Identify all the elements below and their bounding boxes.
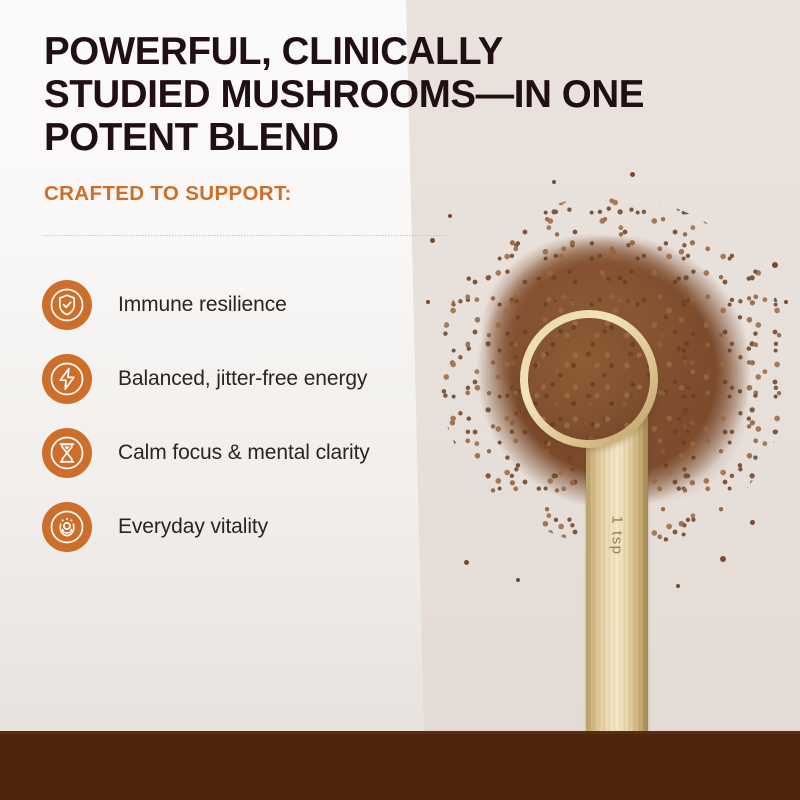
- powder-speck: [720, 556, 726, 562]
- bottom-brown-bar: [0, 731, 800, 800]
- section-eyebrow: CRAFTED TO SUPPORT:: [44, 182, 292, 206]
- lightning-bolt-icon: [42, 354, 92, 404]
- powder-speck: [464, 560, 469, 565]
- list-item: Balanced, jitter-free energy: [42, 354, 462, 404]
- bottom-brown-bar-highlight: [0, 731, 800, 734]
- powder-speck: [630, 172, 635, 177]
- shield-check-icon: [42, 280, 92, 330]
- spoon-measurement-label: 1 tsp: [609, 515, 626, 555]
- powder-speck: [750, 520, 755, 525]
- spoon-bowl-powder-texture: [528, 318, 650, 440]
- powder-speck: [784, 300, 788, 304]
- list-item: Everyday vitality: [42, 502, 462, 552]
- list-item-label: Balanced, jitter-free energy: [118, 366, 367, 392]
- hourglass-icon: [42, 428, 92, 478]
- product-infographic: 1 tsp POWERFUL, CLINICALLY STUDIED MUSHR…: [0, 0, 800, 800]
- powder-speck: [430, 238, 435, 243]
- benefits-list: Immune resilience Balanced, jitter-free …: [42, 280, 462, 576]
- list-item-label: Calm focus & mental clarity: [118, 440, 370, 466]
- list-item-label: Immune resilience: [118, 292, 287, 318]
- powder-speck: [516, 578, 520, 582]
- page-title: POWERFUL, CLINICALLY STUDIED MUSHROOMS—I…: [44, 30, 754, 159]
- divider: [43, 235, 446, 236]
- list-item-label: Everyday vitality: [118, 514, 268, 540]
- spoon-measurement-engraving: 1 tsp: [586, 470, 648, 600]
- list-item: Calm focus & mental clarity: [42, 428, 462, 478]
- hands-vitality-icon: [42, 502, 92, 552]
- powder-speck: [448, 214, 452, 218]
- powder-speck: [552, 180, 556, 184]
- powder-speck: [772, 262, 778, 268]
- list-item: Immune resilience: [42, 280, 462, 330]
- powder-speck: [676, 584, 680, 588]
